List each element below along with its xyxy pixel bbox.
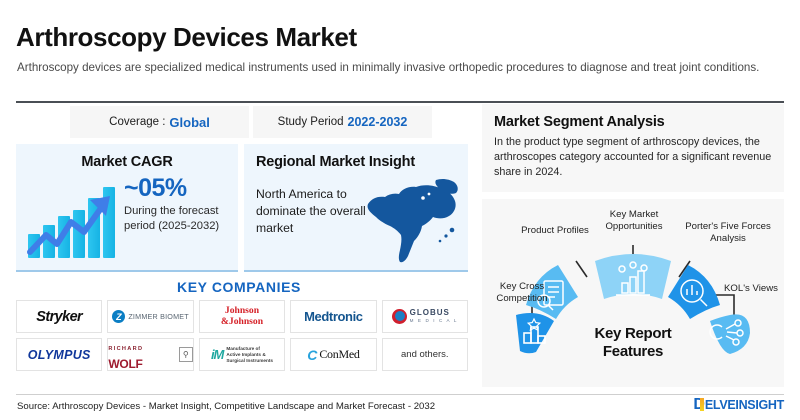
regional-insight-title: Regional Market Insight <box>256 154 415 170</box>
footer-divider <box>16 394 784 395</box>
coverage-cell: Coverage : Global <box>70 106 249 138</box>
and-others-label: and others. <box>401 349 449 360</box>
left-column: Coverage : Global Study Period 2022-2032… <box>0 104 478 389</box>
market-segment-title: Market Segment Analysis <box>494 114 772 130</box>
market-segment-text: In the product type segment of arthrosco… <box>494 135 772 180</box>
zimmer-wordmark: ZIMMER BIOMET <box>128 312 189 321</box>
fan-label-product-profiles: Product Profiles <box>520 225 590 237</box>
wolf-endoscope-icon: ⚲ <box>179 347 193 362</box>
company-logo-stryker: Stryker <box>16 300 102 333</box>
regional-insight-card: Regional Market Insight North America to… <box>244 144 468 272</box>
implants-line-2: Active Implants & <box>226 352 265 357</box>
olympus-wordmark: OLYMPUS <box>28 348 91 362</box>
market-cagr-title: Market CAGR <box>16 154 238 170</box>
delveinsight-logo: D ELVEINSIGHT <box>693 397 784 413</box>
infographic-page: Arthroscopy Devices Market Arthroscopy d… <box>0 0 800 420</box>
globus-line-2: M E D I C A L <box>410 317 458 325</box>
company-logo-zimmer-biomet: Z ZIMMER BIOMET <box>107 300 193 333</box>
brand-spark-icon <box>700 398 704 411</box>
fan-label-porters-five-forces: Porter's Five Forces Analysis <box>680 221 776 245</box>
im-mark-icon: iM <box>211 347 223 362</box>
fan-label-key-market-opportunities: Key Market Opportunities <box>590 209 678 233</box>
meta-bar: Coverage : Global Study Period 2022-2032 <box>70 106 432 138</box>
stryker-wordmark: Stryker <box>36 309 82 325</box>
fan-center-line-1: Key Report <box>594 325 671 342</box>
company-logo-richard-wolf: RICHARD WOLF ⚲ <box>107 338 193 371</box>
key-report-features-panel: Key Report Features Key Cross Competitio… <box>482 199 784 387</box>
key-companies-grid: Stryker Z ZIMMER BIOMET Johnson &Johnson… <box>16 300 468 371</box>
company-logo-conmed: C ConMed <box>290 338 376 371</box>
right-column: Market Segment Analysis In the product t… <box>482 104 784 389</box>
fan-label-key-cross-competition: Key Cross Competition <box>484 281 560 305</box>
page-subtitle: Arthroscopy devices are specialized medi… <box>17 60 773 76</box>
company-logo-active-implants: iM Manufacture of Active Implants & Surg… <box>199 338 285 371</box>
fan-label-kols-views: KOL's Views <box>722 283 780 295</box>
wolf-line-2: WOLF <box>108 357 142 371</box>
study-period-label: Study Period <box>278 116 344 128</box>
implants-line-1: Manufacture of <box>226 346 260 351</box>
source-text: Source: Arthroscopy Devices - Market Ins… <box>17 401 435 412</box>
company-logo-johnson-and-johnson: Johnson &Johnson <box>199 300 285 333</box>
highlight-cards: Market CAGR <box>16 144 468 272</box>
cagr-card-underline <box>16 270 238 272</box>
title-divider <box>16 101 784 103</box>
jnj-line-1: Johnson <box>225 305 259 316</box>
cagr-note: During the forecast period (2025-2032) <box>124 204 236 233</box>
north-america-map-icon <box>356 174 464 268</box>
brand-wordmark: ELVEINSIGHT <box>705 397 784 413</box>
implants-line-3: Surgical Instruments <box>226 358 273 363</box>
conmed-swoosh-icon: C <box>307 347 317 363</box>
wolf-line-1: RICHARD <box>108 346 143 352</box>
cagr-value: ~05% <box>124 174 236 202</box>
study-period-cell: Study Period 2022-2032 <box>253 106 432 138</box>
company-logo-medtronic: Medtronic <box>290 300 376 333</box>
zimmer-z-icon: Z <box>112 310 125 323</box>
fan-center-label: Key Report Features <box>482 325 784 361</box>
fan-center-line-2: Features <box>603 343 663 360</box>
coverage-value: Global <box>169 115 209 130</box>
study-period-value: 2022-2032 <box>348 115 408 129</box>
company-and-others: and others. <box>382 338 468 371</box>
region-card-underline <box>244 270 468 272</box>
coverage-label: Coverage : <box>109 116 165 128</box>
market-segment-analysis-panel: Market Segment Analysis In the product t… <box>482 104 784 192</box>
page-title: Arthroscopy Devices Market <box>16 22 357 53</box>
company-logo-olympus: OLYMPUS <box>16 338 102 371</box>
company-logo-globus-medical: GLOBUS M E D I C A L <box>382 300 468 333</box>
key-companies-title: KEY COMPANIES <box>0 279 478 295</box>
globus-line-1: GLOBUS <box>410 308 450 317</box>
fan-segment-porters-five-forces <box>668 265 720 319</box>
cagr-bar-chart-icon <box>26 178 120 260</box>
conmed-wordmark: ConMed <box>319 347 359 362</box>
globus-circle-icon <box>392 309 407 324</box>
medtronic-wordmark: Medtronic <box>304 309 363 324</box>
market-cagr-card: Market CAGR <box>16 144 238 272</box>
jnj-line-2: &Johnson <box>221 316 263 327</box>
cagr-text-block: ~05% During the forecast period (2025-20… <box>124 174 236 233</box>
